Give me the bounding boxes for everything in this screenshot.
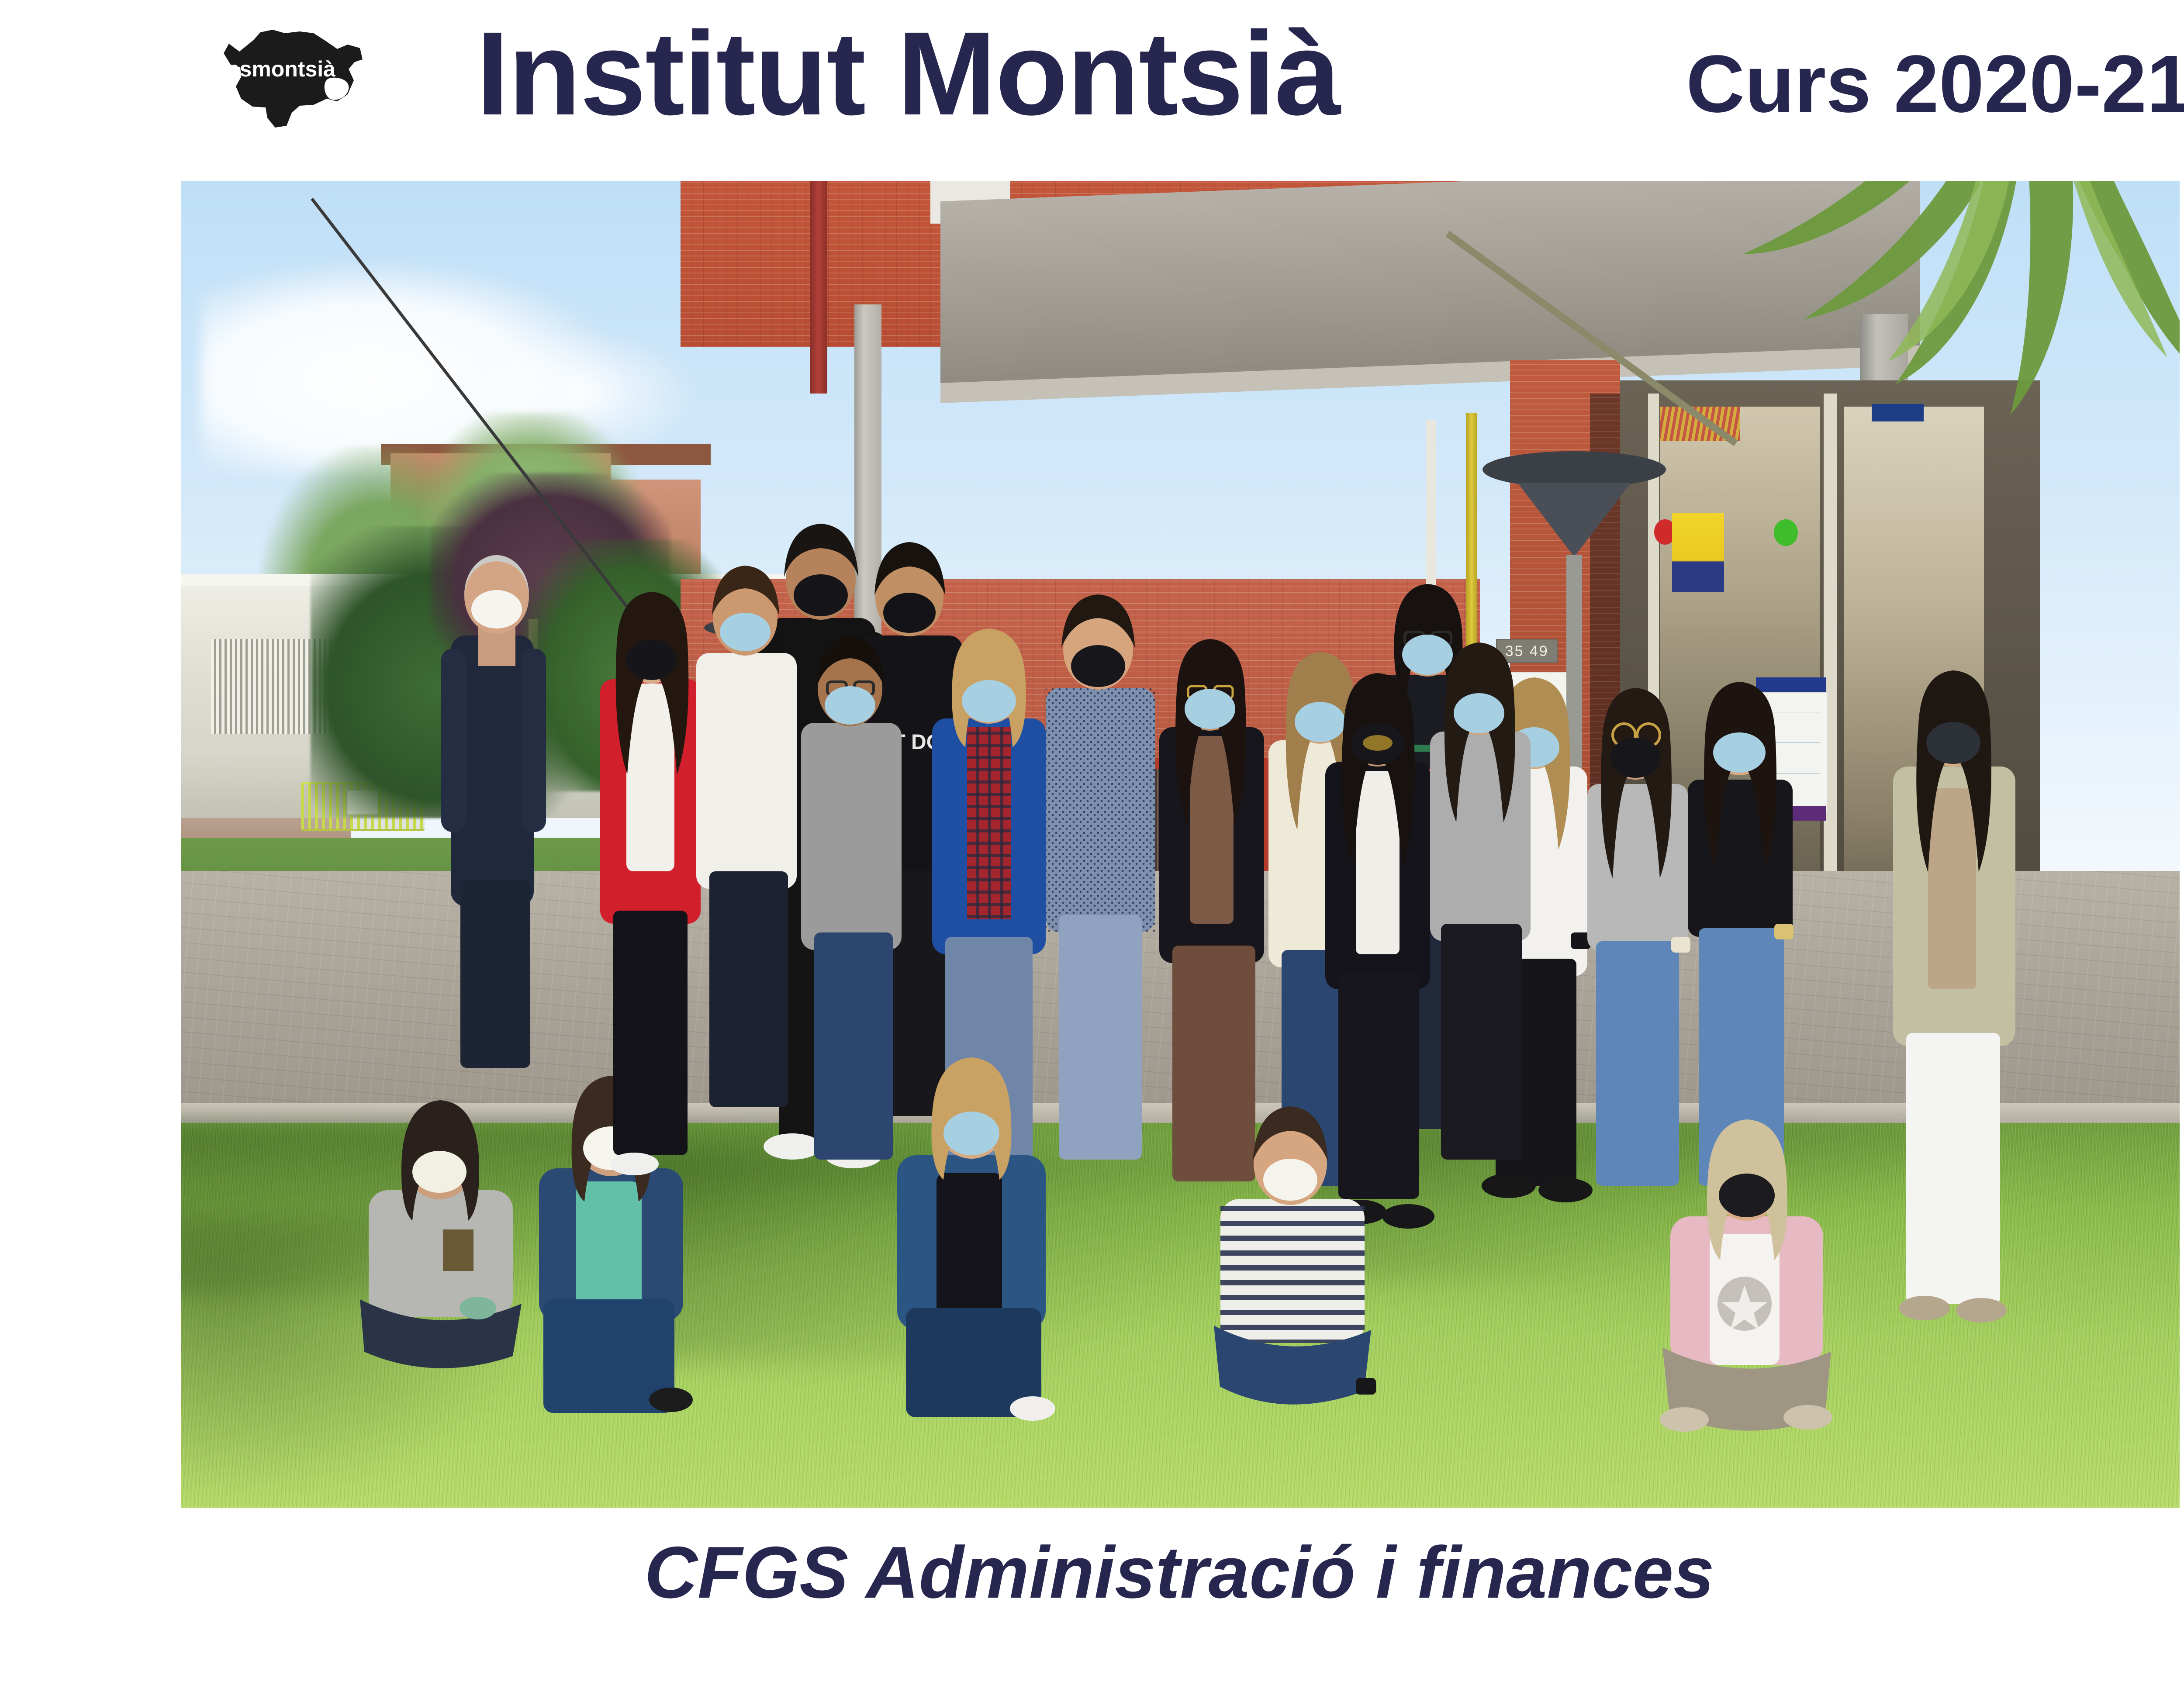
person-student-brown-trousers: [1159, 639, 1264, 1181]
person-student-beige-trench: [1893, 670, 2015, 1322]
person-teacher-seated-pink-jacket: [1660, 1119, 1832, 1432]
person-student-seated-grey-sweater: [360, 1100, 522, 1368]
person-student-round-glasses: [1587, 688, 1690, 1186]
page-header: insmontsià Institut Montsià Curs 2020-21: [0, 0, 2184, 181]
photo-caption: CFGS Administració i finances: [0, 1529, 2184, 1616]
person-student-patterned-shirt: [1046, 594, 1155, 1160]
page-title: Institut Montsià: [476, 14, 1340, 133]
photo-scene: 35 49: [181, 181, 2180, 1508]
people-group: JUST DO IT: [181, 181, 2180, 1508]
montsia-region-silhouette-logo: insmontsià: [175, 13, 419, 144]
person-student-black-crop-top: [1688, 682, 1794, 1186]
class-group-photo: 35 49: [181, 181, 2180, 1508]
person-teacher-man-left: [441, 555, 546, 1068]
course-year-label: Curs 2020-21: [1686, 44, 2184, 125]
school-logo: insmontsià: [175, 13, 419, 144]
svg-text:insmontsià: insmontsià: [220, 57, 335, 81]
person-student-red-cardigan: [600, 592, 701, 1175]
